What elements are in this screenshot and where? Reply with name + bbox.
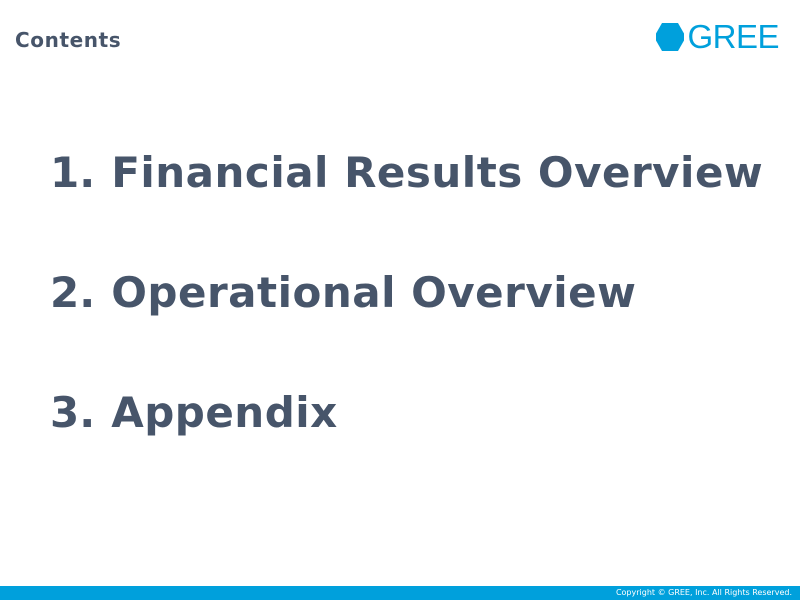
list-item-label: Appendix	[111, 388, 338, 437]
gree-logo: GREE	[656, 20, 779, 54]
list-item[interactable]: 2. Operational Overview	[50, 268, 780, 388]
page-title: Contents	[15, 28, 121, 52]
copyright-text: Copyright © GREE, Inc. All Rights Reserv…	[616, 587, 792, 599]
list-item-number: 3.	[50, 388, 95, 437]
list-item[interactable]: 3. Appendix	[50, 388, 780, 508]
contents-list: 1. Financial Results Overview 2. Operati…	[50, 148, 780, 508]
logo-wordmark: GREE	[687, 21, 779, 53]
slide-header: Contents GREE	[0, 0, 800, 70]
list-item[interactable]: 1. Financial Results Overview	[50, 148, 780, 268]
slide-footer: Copyright © GREE, Inc. All Rights Reserv…	[0, 586, 800, 600]
list-item-number: 2.	[50, 268, 95, 317]
slide: Contents GREE 1. Financial Results Overv…	[0, 0, 800, 600]
list-item-number: 1.	[50, 148, 95, 197]
list-item-label: Financial Results Overview	[111, 148, 763, 197]
hexagon-icon	[656, 21, 684, 53]
list-item-label: Operational Overview	[111, 268, 636, 317]
